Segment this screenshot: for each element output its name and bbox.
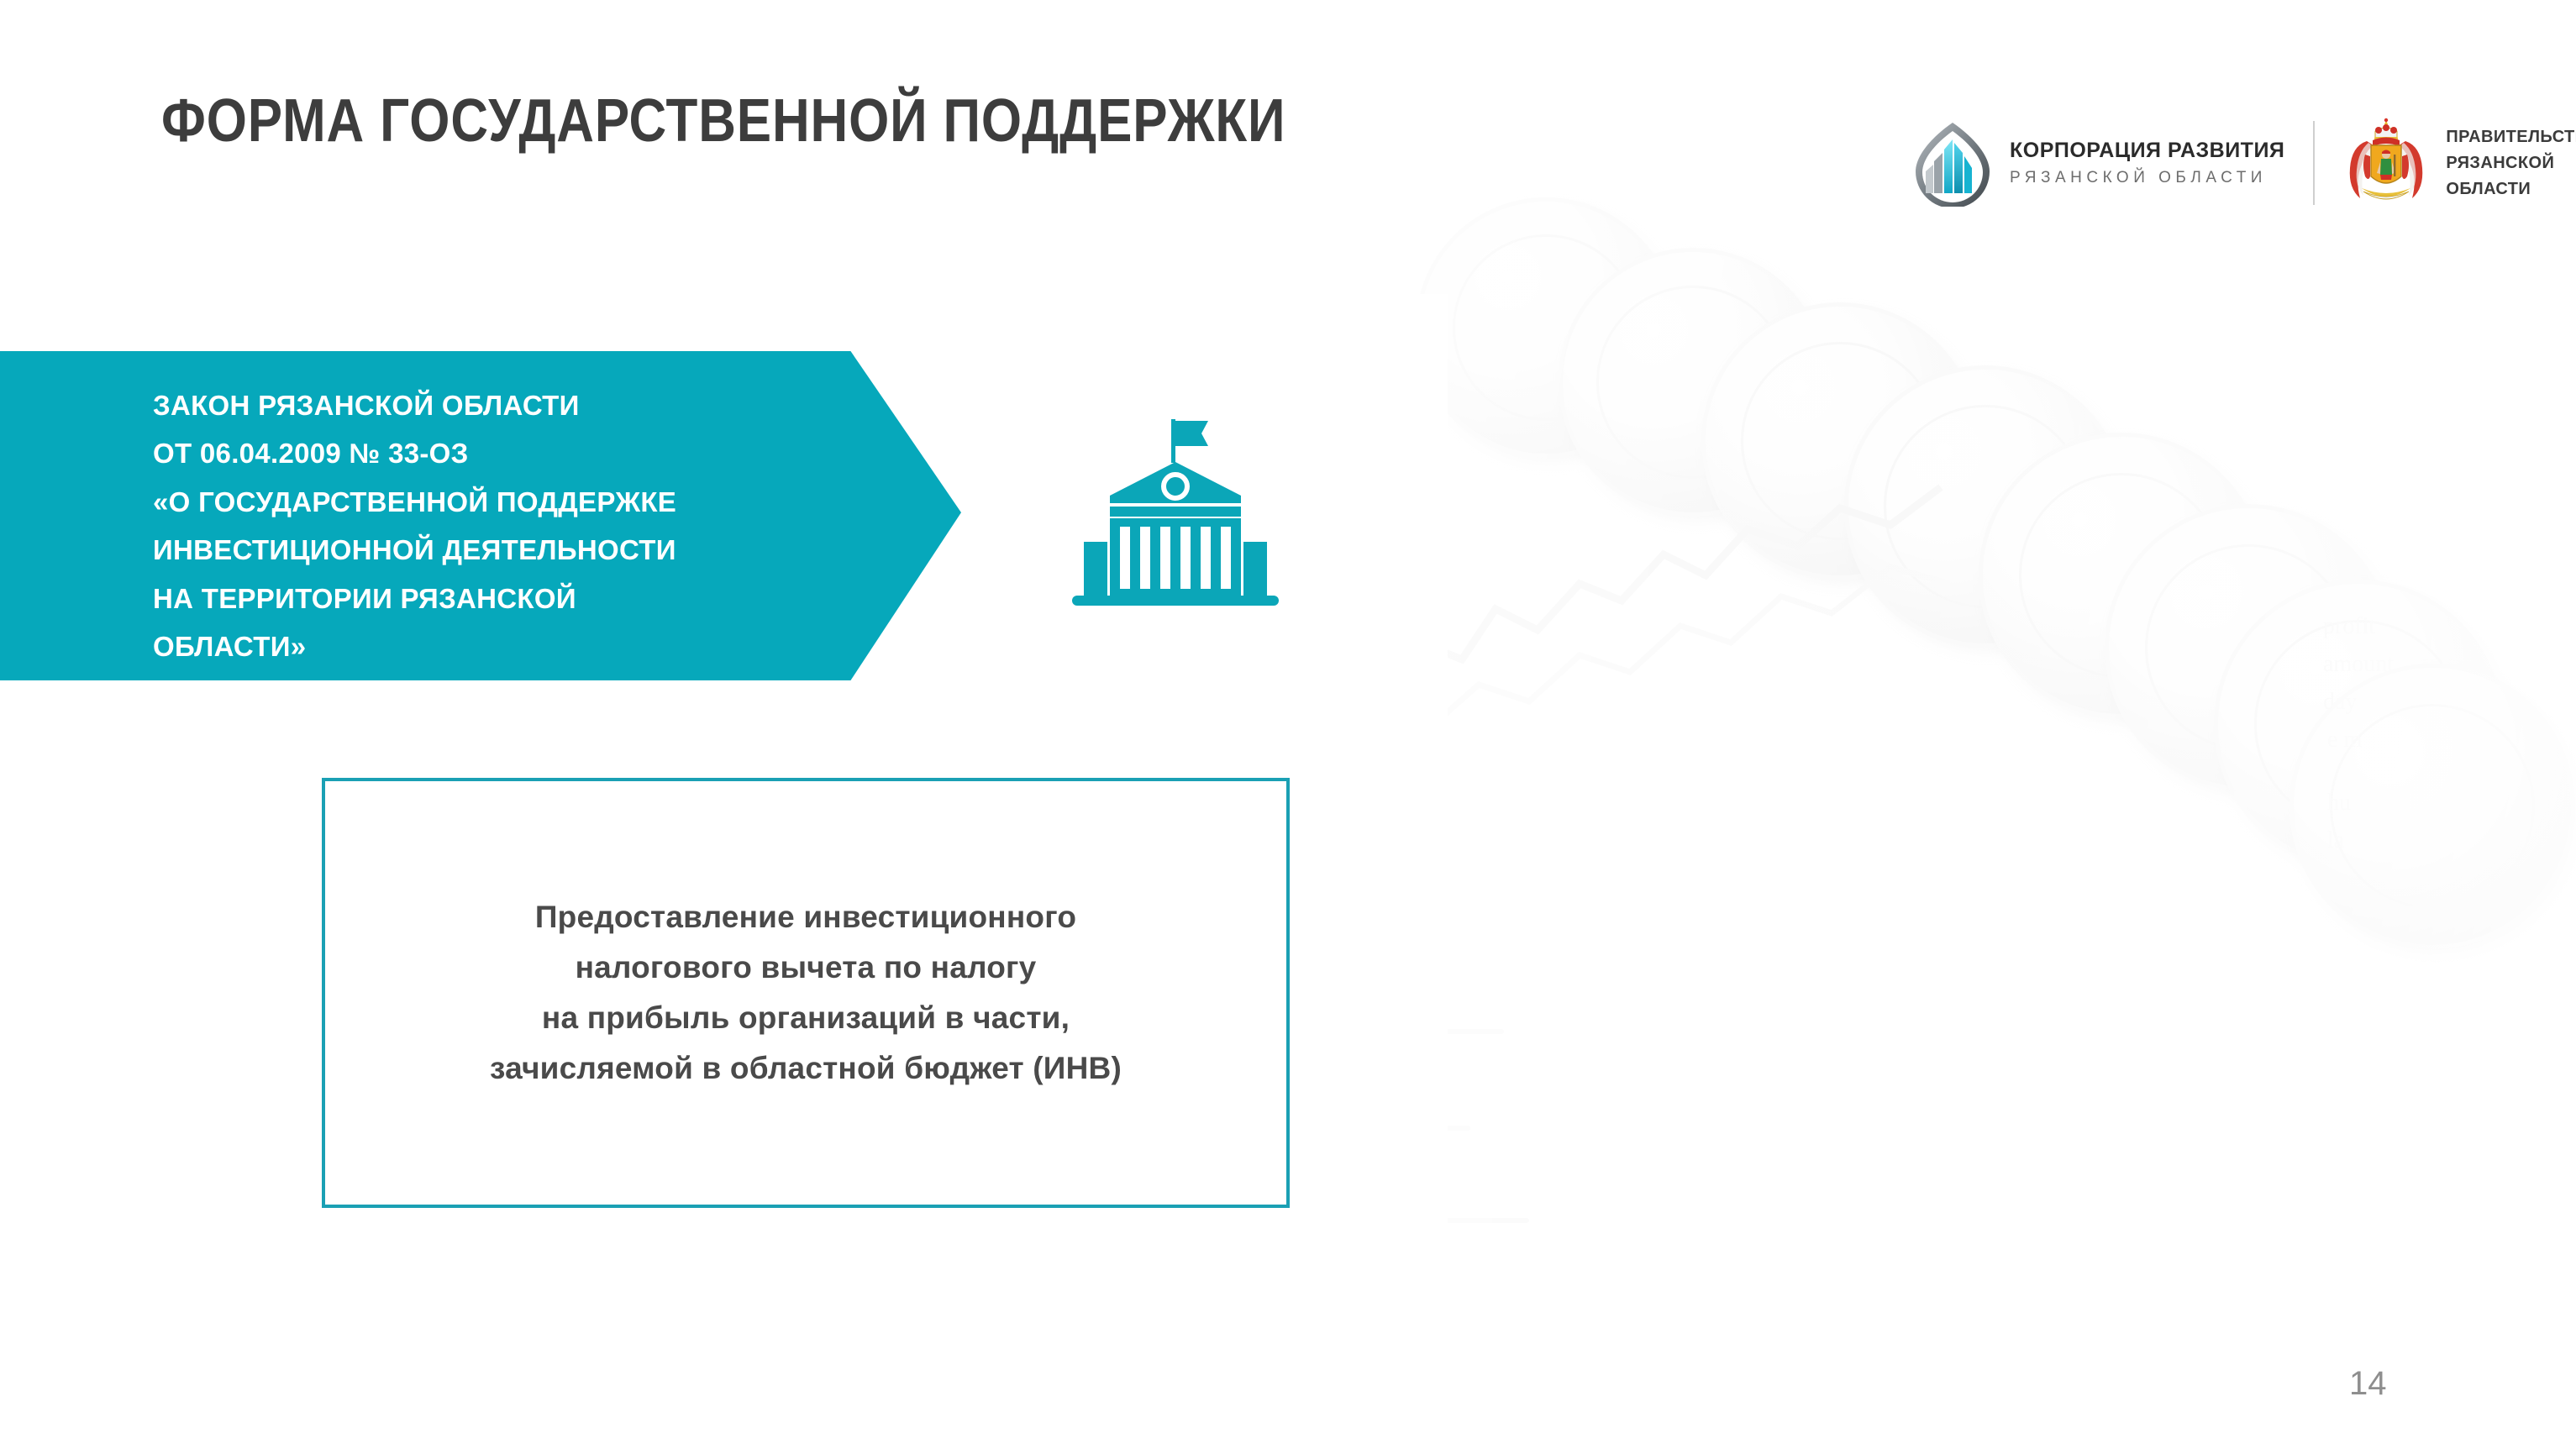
corporation-logo-line2: РЯЗАНСКОЙ ОБЛАСТИ [2010,169,2284,187]
measure-line-3: на прибыль организаций в части, [490,993,1122,1043]
government-logo-line3: ОБЛАСТИ [2446,176,2576,202]
law-banner-line-5: НА ТЕРРИТОРИИ РЯЗАНСКОЙ [153,575,844,622]
government-logo-text: ПРАВИТЕЛЬСТВО РЯЗАНСКОЙ ОБЛАСТИ [2446,124,2576,202]
government-logo: ПРАВИТЕЛЬСТВО РЯЗАНСКОЙ ОБЛАСТИ [2343,118,2576,208]
corporation-teardrop-buildings-logo-icon [1909,119,1996,207]
corporation-logo: КОРПОРАЦИЯ РАЗВИТИЯ РЯЗАНСКОЙ ОБЛАСТИ [1909,119,2284,207]
government-logo-line2: РЯЗАНСКОЙ [2446,150,2576,176]
page-number: 14 [2349,1365,2387,1403]
law-banner-line-3: «О ГОСУДАРСТВЕННОЙ ПОДДЕРЖКЕ [153,478,844,526]
measure-box-text: Предоставление инвестиционного налоговог… [490,892,1122,1094]
logo-divider [2313,121,2315,205]
measure-line-2: налогового вычета по налогу [490,942,1122,993]
law-banner-line-6: ОБЛАСТИ» [153,622,844,670]
law-banner-line-2: ОТ 06.04.2009 № 33-ОЗ [153,429,844,477]
corporation-logo-text: КОРПОРАЦИЯ РАЗВИТИЯ РЯЗАНСКОЙ ОБЛАСТИ [2010,139,2284,187]
measure-box: Предоставление инвестиционного налоговог… [322,778,1290,1208]
law-banner-text: ЗАКОН РЯЗАНСКОЙ ОБЛАСТИ ОТ 06.04.2009 № … [153,381,844,670]
measure-line-4: зачисляемой в областной бюджет (ИНВ) [490,1043,1122,1094]
page-title: ФОРМА ГОСУДАРСТВЕННОЙ ПОДДЕРЖКИ [161,91,1285,151]
corporation-logo-line1: КОРПОРАЦИЯ РАЗВИТИЯ [2010,139,2284,163]
ryazan-oblast-coat-of-arms-icon [2343,118,2429,208]
slide-root: 6,500 5,250 4,000 profit amount day e m … [0,0,2576,1449]
law-banner-line-4: ИНВЕСТИЦИОННОЙ ДЕЯТЕЛЬНОСТИ [153,526,844,574]
law-banner: ЗАКОН РЯЗАНСКОЙ ОБЛАСТИ ОТ 06.04.2009 № … [0,351,961,680]
bank-government-building-icon [1060,409,1316,614]
logo-bar: КОРПОРАЦИЯ РАЗВИТИЯ РЯЗАНСКОЙ ОБЛАСТИ [1909,116,2576,210]
law-banner-line-1: ЗАКОН РЯЗАНСКОЙ ОБЛАСТИ [153,381,844,429]
measure-line-1: Предоставление инвестиционного [490,892,1122,942]
government-logo-line1: ПРАВИТЕЛЬСТВО [2446,124,2576,150]
